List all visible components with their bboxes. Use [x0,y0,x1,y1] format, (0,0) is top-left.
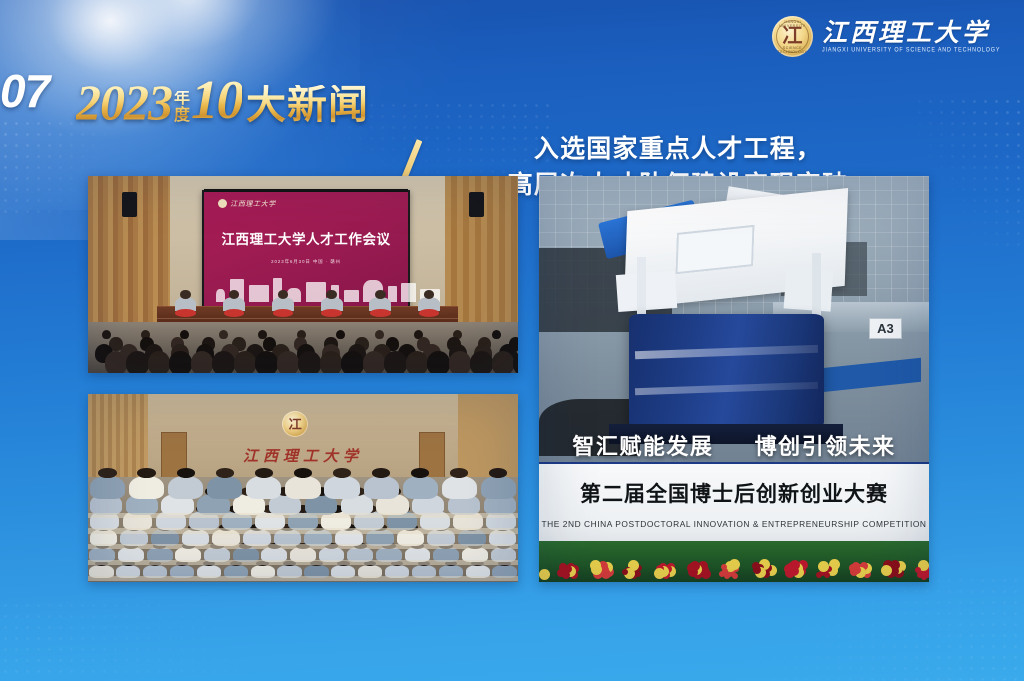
flower [539,569,550,580]
desk-row [88,560,518,565]
audience-head [384,351,407,373]
audience-head [105,351,128,373]
seating-area [88,477,518,582]
screen-logo-seal-icon [218,199,227,208]
wall-emblem-icon [282,411,308,437]
logo-name-en: JIANGXI UNIVERSITY OF SCIENCE AND TECHNO… [822,47,1000,54]
person-head [411,468,429,478]
sculpture-side-right [783,268,833,312]
sculpture-blue-drum [629,314,824,428]
conference-hall-scene: 江西理工大学 江西理工大学人才工作会议 2023年6月30日 中国 · 赣州 [88,176,518,373]
desk-row [88,576,518,581]
person-head [137,468,155,478]
flower [818,561,829,572]
photo-postdoctoral-competition-monument: A3 智汇赋能发展 博创引领未来 第二届全国博士后创新创业大赛 THE 2ND … [539,176,929,582]
flower [590,560,601,571]
screen-title: 江西理工大学人才工作会议 [204,228,408,248]
flower [784,564,794,574]
desk-row [88,513,518,518]
dot-grid-bottom-right-decoration [724,575,1024,681]
flower-pot [273,309,293,317]
auditorium-scene: 江西理工大学 [88,394,518,582]
audience-head [406,351,429,373]
audience-head [341,351,364,373]
title-row: 2023 年 度 10 大新闻 07 入选国家重点人才工程， 高层次人才队伍建设… [0,64,1024,136]
flower [622,569,628,575]
audience-head [363,351,386,373]
university-logo: JIANGXI UNIVERSITY 冮 SCIENCE TECHNOLOGY … [772,16,1000,57]
audience-head [126,351,149,373]
audience-head [375,330,384,339]
audience-head [212,351,235,373]
logo-name-cn: 江西理工大学 [822,21,1000,46]
audience-head [298,351,321,373]
audience-head [336,330,345,339]
audience-head [492,330,501,339]
audience-head [255,351,278,373]
photo-auditorium-audience: 江西理工大学 [88,394,518,582]
logo-wordmark: 江西理工大学 JIANGXI UNIVERSITY OF SCIENCE AND… [822,21,1000,53]
seated-person [364,476,399,499]
building-sign-a3: A3 [869,318,902,339]
seated-person [481,476,516,499]
audience-head [492,351,515,373]
competition-title-en: THE 2ND CHINA POSTDOCTORAL INNOVATION & … [539,519,929,529]
series-suffix: 大新闻 [246,85,369,125]
audience-head [102,330,111,339]
seated-person [285,476,320,499]
series-year-suffix-bottom: 度 [174,108,190,124]
screen-logo-text: 江西理工大学 [230,199,276,209]
person-head [294,468,312,478]
flower-pot [321,309,341,317]
person-head [255,468,273,478]
flower [816,572,822,578]
series-year: 2023 [76,77,172,127]
flower [719,571,725,577]
audience-head [219,330,228,339]
flower [752,562,760,570]
screen-logo: 江西理工大学 [218,199,276,209]
audience-head [427,351,450,373]
audience-head [449,351,472,373]
slogan-right: 博创引领未来 [755,429,896,461]
flower-pot [370,309,390,317]
series-count: 10 [191,72,242,127]
audience-head [277,351,300,373]
audience-head [169,351,192,373]
flower-bed [539,541,929,582]
monument-scene: A3 智汇赋能发展 博创引领未来 第二届全国博士后创新创业大赛 THE 2ND … [539,176,929,582]
slogan-left: 智汇赋能发展 [572,429,713,461]
seated-person [207,476,242,499]
audience-head [470,351,493,373]
desk-row [88,544,518,549]
flower [687,563,697,573]
competition-title: 第二届全国博士后创新创业大赛 [539,478,929,508]
table-flowers [161,309,453,317]
flower-pot [224,309,244,317]
seat-row [88,476,518,499]
audience-head [234,351,257,373]
person-head [489,468,507,478]
photo-talent-work-conference: 江西理工大学 江西理工大学人才工作会议 2023年6月30日 中国 · 赣州 [88,176,518,373]
flower [881,565,892,576]
speaker-left-icon [122,192,136,218]
audience-head [320,351,343,373]
person-head [216,468,234,478]
poster-canvas: JIANGXI UNIVERSITY 冮 SCIENCE TECHNOLOGY … [0,0,1024,681]
audience-head [148,351,171,373]
seated-person [246,476,281,499]
flower [849,564,857,572]
speaker-right-icon [469,192,483,218]
seated-person [324,476,359,499]
series-year-suffix-stack: 年 度 [174,91,190,124]
person-head [177,468,195,478]
series-year-suffix-top: 年 [174,91,190,107]
series-title-gold: 2023 年 度 10 大新闻 [76,72,369,127]
audience-heads [88,322,518,373]
screen-top-bezel [204,189,408,192]
seated-person [129,476,164,499]
person-head [372,468,390,478]
headline-line-1: 入选国家重点人才工程， [468,132,888,168]
person-head [98,468,116,478]
university-seal-icon: JIANGXI UNIVERSITY 冮 SCIENCE TECHNOLOGY [772,16,813,57]
seated-person [168,476,203,499]
screen-subtitle: 2023年6月30日 中国 · 赣州 [204,259,408,265]
seal-character: 冮 [772,26,813,46]
sculpture-inner-square [675,225,754,274]
sculpture-side-left [616,271,677,312]
flower-pot [175,309,195,317]
dot-grid-bottom-left-decoration [0,600,320,681]
seated-person [403,476,438,499]
monument-slogan: 智汇赋能发展 博创引领未来 [539,429,929,461]
seated-person [442,476,477,499]
person-head [450,468,468,478]
seated-person [90,476,125,499]
person-head [333,468,351,478]
audience-head [191,351,214,373]
flower-pot [419,309,439,317]
audience-area [88,322,518,373]
desk-row [88,528,518,533]
seal-arc-bottom-text: SCIENCE TECHNOLOGY [772,46,813,54]
wall-calligraphy: 江西理工大学 [88,445,518,466]
